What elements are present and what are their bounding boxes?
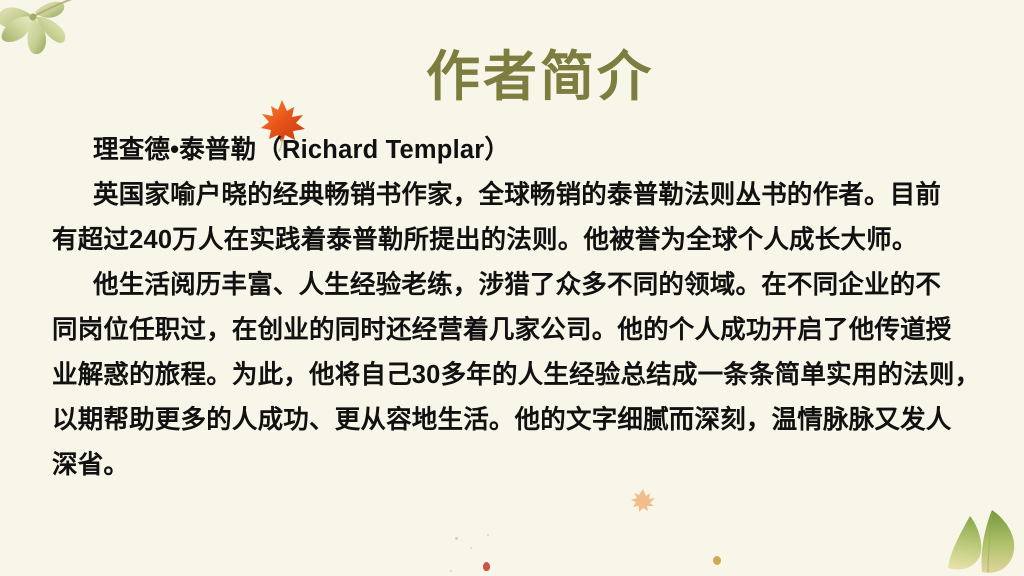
small-orange-leaf-icon	[630, 487, 656, 515]
body-copy: 理查德•泰普勒（Richard Templar） 英国家喻户晓的经典畅销书作家，…	[52, 128, 982, 488]
paragraph-line: 有超过240万人在实践着泰普勒所提出的法则。他被誉为全球个人成长大师。	[52, 218, 982, 263]
dust-speck-icon	[450, 570, 452, 572]
dust-speck-icon	[470, 547, 472, 549]
green-leaf-pair-icon	[940, 500, 1024, 576]
title-row: 作者简介	[0, 44, 1024, 116]
paragraph-line: 理查德•泰普勒（Richard Templar）	[52, 128, 982, 173]
paragraph-line: 以期帮助更多的人成功、更从容地生活。他的文字细腻而深刻，温情脉脉又发人	[52, 398, 982, 443]
red-speck-icon	[483, 562, 490, 571]
paragraph-line: 业解惑的旅程。为此，他将自己30多年的人生经验总结成一条条简单实用的法则，	[52, 353, 982, 398]
paragraph-line: 深省。	[52, 443, 982, 488]
dust-speck-icon	[487, 534, 489, 536]
paragraph-line: 英国家喻户晓的经典畅销书作家，全球畅销的泰普勒法则丛书的作者。目前	[52, 173, 982, 218]
slide-canvas: 作者简介 理查德•泰普勒（Richard Templar） 英国家喻户晓的经典畅…	[0, 0, 1024, 576]
paragraph-line: 他生活阅历丰富、人生经验老练，涉猎了众多不同的领域。在不同企业的不	[52, 263, 982, 308]
paragraph-line: 同岗位任职过，在创业的同时还经营着几家公司。他的个人成功开启了他传道授	[52, 308, 982, 353]
ochre-speck-icon	[713, 556, 721, 565]
page-title: 作者简介	[330, 44, 750, 110]
dust-speck-icon	[455, 537, 458, 540]
